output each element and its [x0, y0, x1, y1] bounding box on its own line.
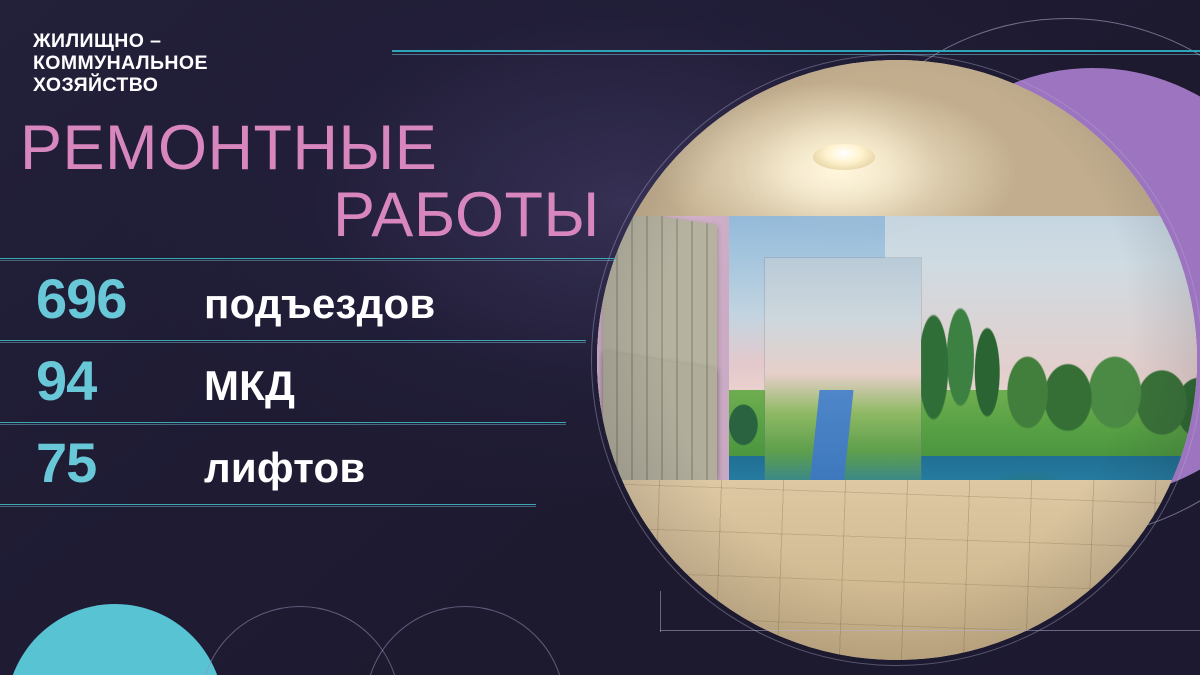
page-title-line-2: РАБОТЫ: [333, 182, 600, 248]
top-accent-line: [392, 50, 1200, 52]
eyebrow-heading: ЖИЛИЩНО – КОММУНАЛЬНОЕ ХОЗЯЙСТВО: [33, 30, 208, 96]
page-title-line-1: РЕМОНТНЫЕ: [20, 115, 437, 181]
stat-label: МКД: [204, 345, 295, 427]
entryway-mural-photo: [597, 60, 1197, 660]
slide-canvas: ЖИЛИЩНО – КОММУНАЛЬНОЕ ХОЗЯЙСТВО РЕМОНТН…: [0, 0, 1200, 675]
stat-label: лифтов: [204, 427, 365, 509]
outline-circle-bottom-left-2: [365, 606, 565, 675]
stat-value: 94: [36, 340, 204, 422]
stat-value: 75: [36, 422, 204, 504]
stat-label: подъездов: [204, 263, 435, 345]
stat-row: 94 МКД: [0, 340, 620, 422]
outline-circle-bottom-left-1: [200, 606, 400, 675]
photo-vignette: [597, 60, 1197, 660]
stat-row: 75 лифтов: [0, 422, 620, 504]
cyan-circle-decoration: [6, 604, 224, 675]
stat-row: 696 подъездов: [0, 258, 620, 340]
statistics-list: 696 подъездов 94 МКД 75 лифтов: [0, 258, 620, 504]
photo-scene: [597, 60, 1197, 660]
stat-value: 696: [36, 258, 204, 340]
